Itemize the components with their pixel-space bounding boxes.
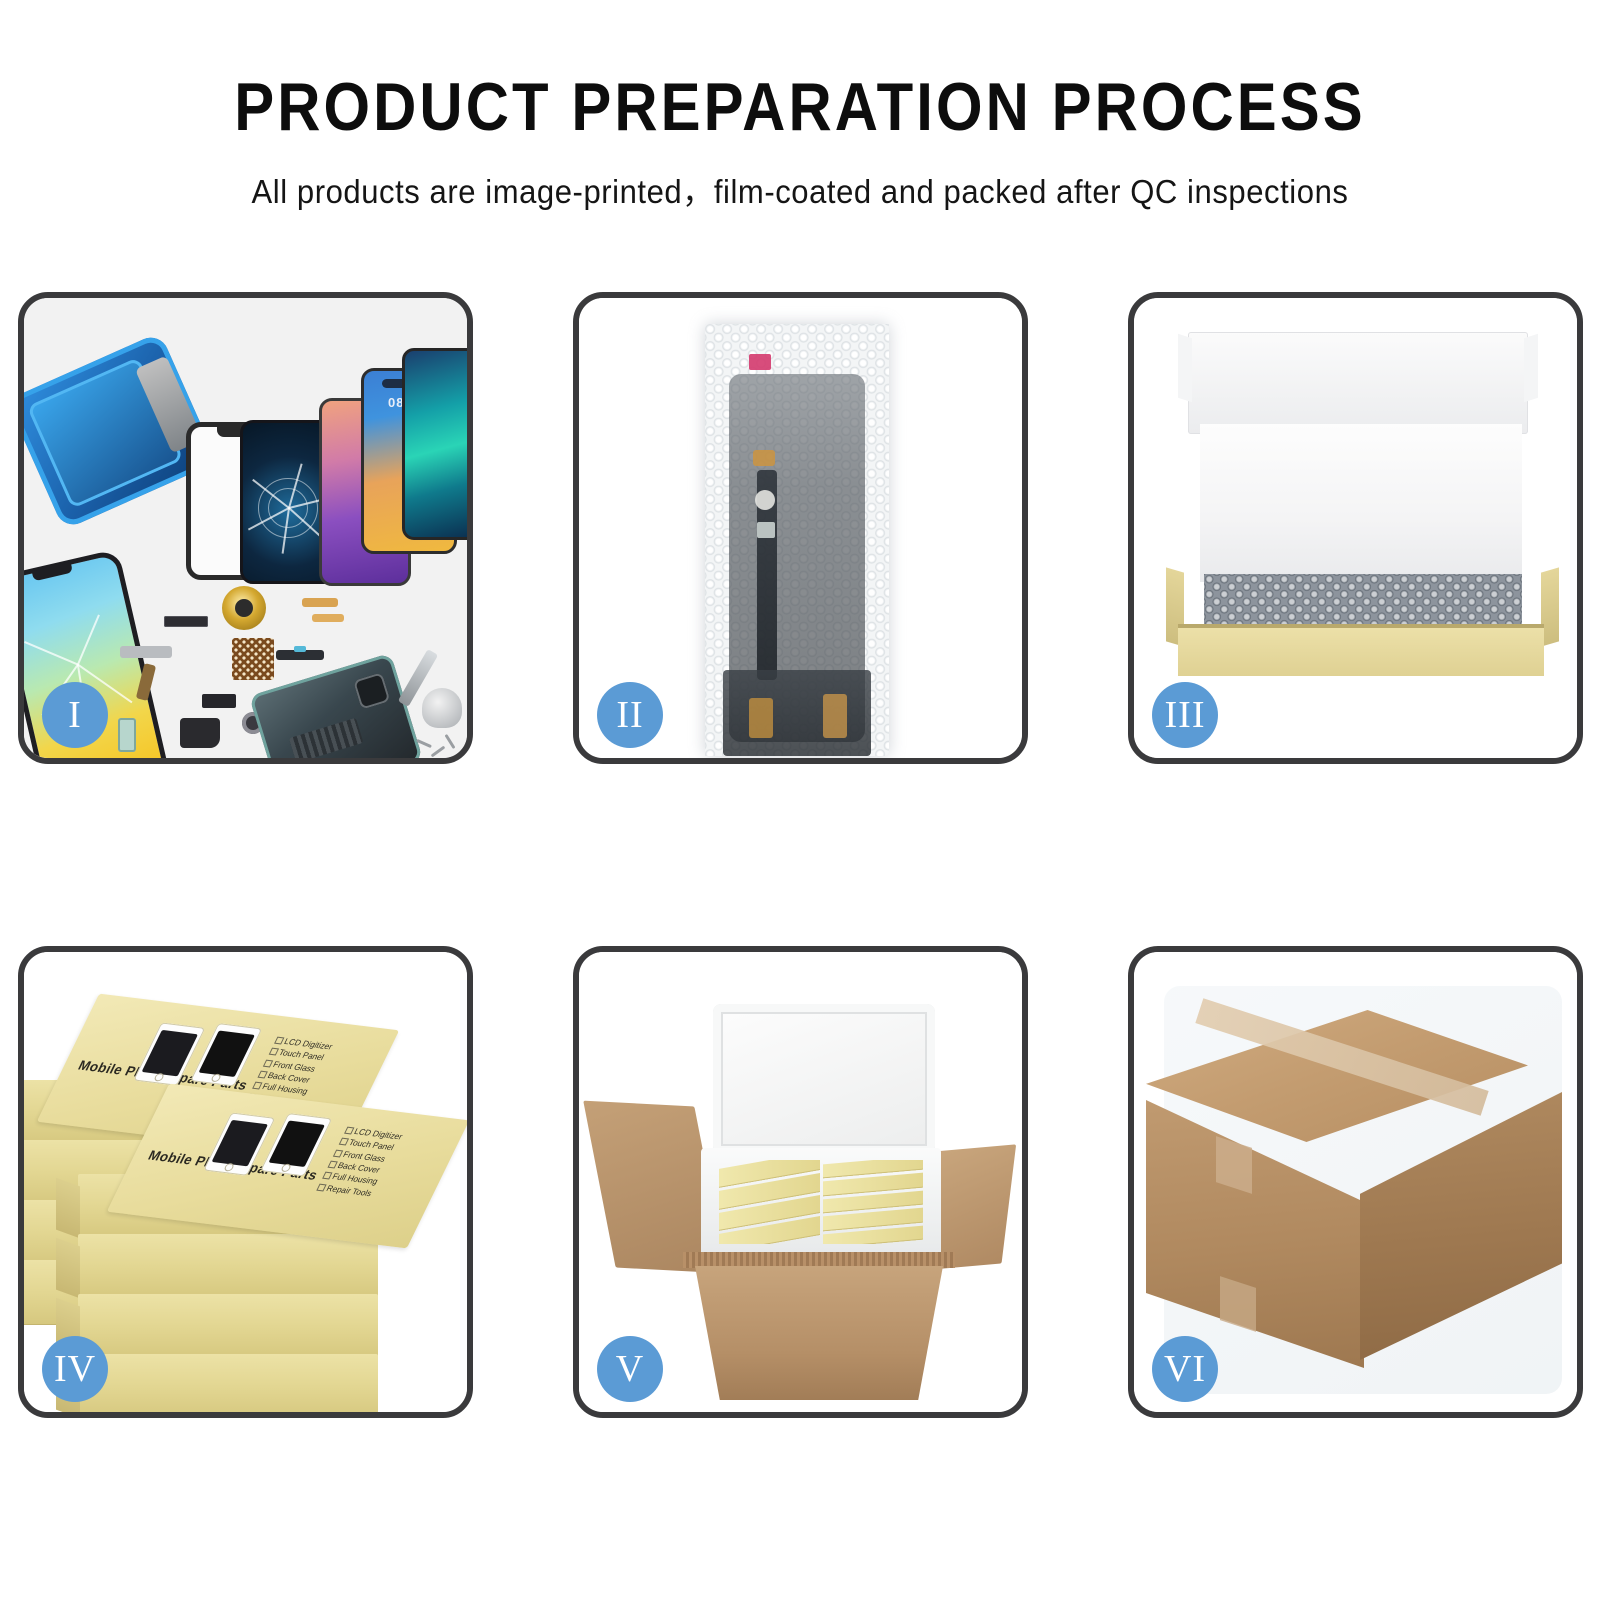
speaker-module-icon [180,718,220,748]
carton-body-icon [695,1266,943,1400]
crack-line-icon [77,615,100,665]
step-badge-5: V [597,1336,663,1402]
page-title: PRODUCT PREPARATION PROCESS [96,72,1504,143]
step-panel-4: Mobile Phone Spare Parts LCD Digitizer T… [18,946,473,1418]
box-lid-icon [1188,332,1528,434]
carton-rim-corrugation-icon [683,1252,955,1268]
box-column-left [719,1160,820,1244]
screws-group-icon [416,738,462,758]
step-panel-6: VI [1128,946,1583,1418]
step-panel-3: III [1128,292,1583,764]
bga-chip-icon [232,638,274,680]
packed-boxes-group [719,1160,923,1244]
step-badge-1: I [42,682,108,748]
foam-cooler-lid-icon [713,1004,935,1154]
process-step-grid: 08 08 [18,292,1590,1418]
box-edge [78,1234,378,1298]
box-column-right [823,1160,924,1244]
step-panel-2: II [573,292,1028,764]
adhesive-dot-icon [755,490,775,510]
gold-flex-cable-icon [312,614,344,622]
cleaning-brush-icon [422,688,462,728]
page-header: PRODUCT PREPARATION PROCESS All products… [0,0,1600,213]
gold-contact-pad-icon [753,450,775,466]
crack-line-icon [24,642,78,667]
gold-flex-cable-icon [302,598,338,607]
step-badge-6: VI [1152,1336,1218,1402]
driver-chip-icon [757,522,775,538]
step-badge-2: II [597,682,663,748]
box-edge [78,1294,378,1358]
taptic-coil-icon [222,586,266,630]
box-edge [78,1354,378,1412]
metal-bracket-icon [120,646,172,658]
page-subtitle: All products are image-printed，film-coat… [48,165,1552,213]
teal-display-phone-icon [402,348,467,540]
bubble-wrap-bag-icon [705,324,889,756]
connector-bar-chip-icon [164,616,208,627]
pink-qc-sticker-icon [749,354,771,370]
gold-contact-pad-icon [823,694,847,738]
retail-box-checklist: LCD Digitizer Touch Panel Front Glass Ba… [315,1125,404,1200]
kraft-box-front-icon [1178,628,1544,676]
foam-sheet-icon [1200,424,1522,582]
step-panel-1: 08 08 [18,292,473,764]
sim-tray-icon [118,718,136,752]
black-chip-icon [202,694,236,708]
back-housing-icon [249,653,423,758]
step-badge-3: III [1152,682,1218,748]
step-panel-5: V [573,946,1028,1418]
step-badge-4: IV [42,1336,108,1402]
lcd-bottom-bezel-icon [723,670,871,756]
gold-contact-pad-icon [749,698,773,738]
flex-ribbon-cable-icon [276,650,324,660]
